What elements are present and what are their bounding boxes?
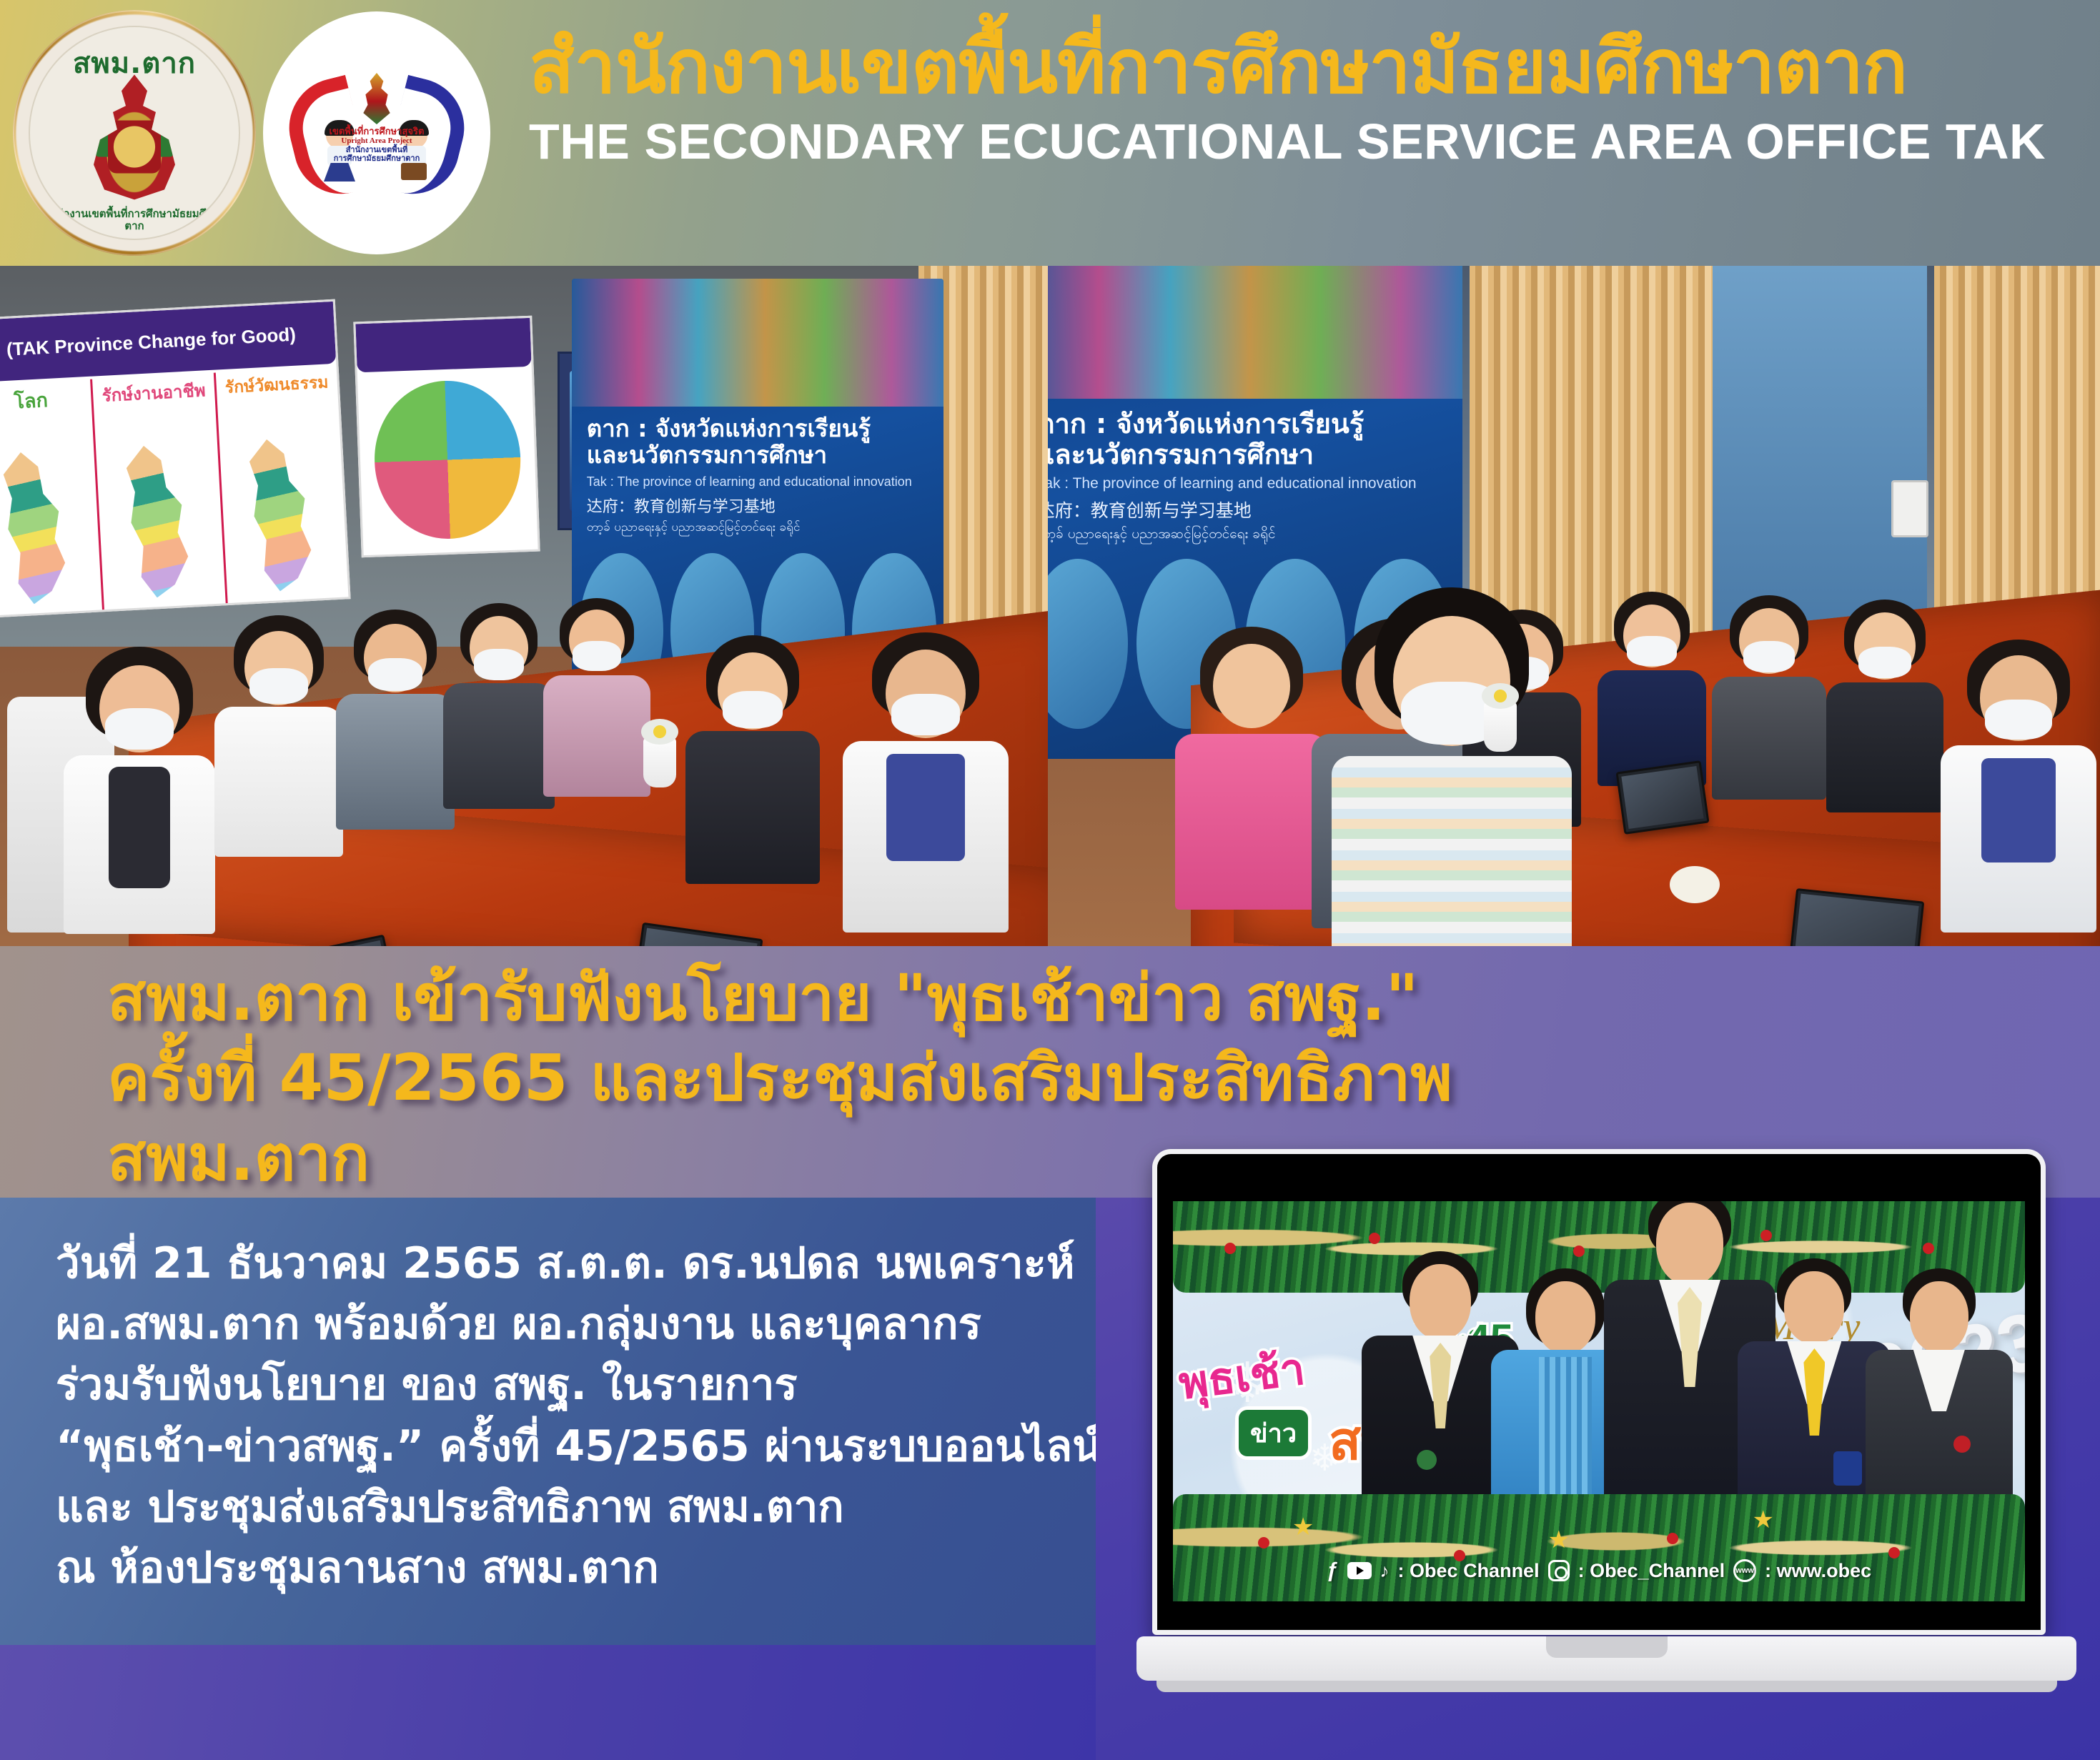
tea-cup — [1670, 866, 1720, 903]
laptop-trackpad-notch — [1546, 1636, 1668, 1658]
banner-line-5: တာ့ခ် ပညာရေးနှင့် ပညာအဆင့်မြင့်တင်ရေး ခရ… — [1048, 525, 1445, 545]
banner-line-3: Tak : The province of learning and educa… — [1048, 475, 1445, 492]
poster-col-label-1: รักษ์งานอาชีพ — [93, 376, 215, 410]
attendee — [1941, 640, 2095, 933]
photo-strip: (TAK Province Change for Good) โลก รักษ์… — [0, 266, 2100, 946]
banner-line-5: တာ့ခ် ပညာရေးနှင့် ပညာအဆင့်မြင့်တင်ရေး ခရ… — [587, 519, 928, 537]
tiktok-label: : Obec Channel — [1398, 1560, 1540, 1582]
body-text-band: วันที่ 21 ธันวาคม 2565 ส.ต.ต. ดร.นปดล นพ… — [0, 1198, 1096, 1645]
poster-col-label-2: รักษ์วัฒนธรรม — [216, 369, 338, 402]
banner-line-3: Tak : The province of learning and educa… — [587, 474, 928, 489]
executive-portrait — [1879, 1251, 1999, 1521]
upright-logo-line4: การศึกษามัธยมศึกษาตาก — [309, 154, 445, 163]
tiktok-icon[interactable]: ♪ — [1380, 1560, 1390, 1582]
attendee — [543, 598, 650, 790]
poster-column: รักษ์งานอาชีพ — [90, 373, 225, 610]
attendee — [336, 610, 454, 824]
executive-portrait — [1754, 1243, 1874, 1521]
body-paragraph: วันที่ 21 ธันวาคม 2565 ส.ต.ต. ดร.นปดล นพ… — [56, 1233, 1071, 1599]
banner-line-2: และนวัตกรรมการศึกษา — [1048, 439, 1445, 470]
attendee — [686, 635, 818, 878]
attendee-foreground — [1334, 587, 1570, 946]
tak-province-map-icon — [111, 443, 211, 600]
banner-line-1: ตาก : จังหวัดแห่งการเรียนรู้ — [587, 416, 928, 442]
upright-logo-line1: เขตพื้นที่การศึกษาสุจริต — [309, 127, 445, 137]
executives-photo-row — [1380, 1201, 1999, 1521]
instagram-icon[interactable] — [1548, 1560, 1570, 1581]
secondary-wall-poster — [353, 316, 540, 558]
social-media-bar: ƒ ♪ : Obec Channel : Obec_Channel www : … — [1173, 1558, 2025, 1583]
poster-col-label-0: โลก — [0, 382, 92, 419]
attendee — [64, 647, 214, 933]
banner-kids-photo — [1048, 266, 1462, 399]
spm-tak-seal-logo: สพม.ตาก สำนักงานเขตพื้นที่การศึกษามัธยมศ… — [13, 10, 256, 256]
laptop-screen: ❄ ❄ ❄ ❄ ❄ ❄ ❄ ❄ พุธเช้า ครั้งที่ 45 — [1173, 1201, 2025, 1601]
seal-bottom-text: สำนักงานเขตพื้นที่การศึกษามัธยมศึกษาตาก — [30, 208, 239, 232]
youtube-icon[interactable] — [1347, 1562, 1372, 1579]
infographic-page: สพม.ตาก สำนักงานเขตพื้นที่การศึกษามัธยมศ… — [0, 0, 2100, 1760]
upright-logo-line3: สำนักงานเขตพื้นที่ — [309, 146, 445, 154]
poster-column: โลก — [0, 379, 102, 616]
body-line-6: ณ ห้องประชุมลานสาง สพม.ตาก — [56, 1538, 1071, 1599]
tablet-device — [1615, 760, 1709, 835]
tak-change-for-good-poster: (TAK Province Change for Good) โลก รักษ์… — [0, 299, 351, 619]
page-header: สพม.ตาก สำนักงานเขตพื้นที่การศึกษามัธยมศ… — [0, 0, 2100, 266]
website-icon[interactable]: www — [1733, 1559, 1756, 1582]
poster-column: รักษ์วัฒนธรรม — [213, 367, 348, 603]
attendee — [443, 603, 554, 803]
banner-line-4: 达府：教育创新与学习基地 — [1048, 497, 1445, 522]
attendee — [1713, 595, 1826, 797]
laptop-base — [1136, 1636, 2076, 1681]
banner-line-1: ตาก : จังหวัดแห่งการเรียนรู้ — [1048, 409, 1445, 439]
seal-emblem-icon — [81, 74, 188, 199]
body-line-3: ร่วมรับฟังนโยบาย ของ สพฐ. ในรายการ — [56, 1355, 1071, 1416]
banner-line-4: 达府：教育创新与学习基地 — [587, 494, 928, 517]
poster-pie-diagram — [372, 379, 524, 541]
laptop-lid: ❄ ❄ ❄ ❄ ❄ ❄ ❄ ❄ พุธเช้า ครั้งที่ 45 — [1152, 1149, 2046, 1635]
headline-line-1: สพม.ตาก เข้ารับฟังนโยบาย "พุธเช้าข่าว สพ… — [107, 958, 1937, 1038]
seal-leaf-right-icon — [142, 133, 173, 157]
attendee — [1177, 627, 1327, 905]
body-line-2: ผอ.สพม.ตาก พร้อมด้วย ผอ.กลุ่มงาน และบุคล… — [56, 1294, 1071, 1355]
bottom-left-background — [0, 1645, 1096, 1760]
executive-portrait — [1630, 1201, 1750, 1521]
attendee — [1827, 600, 1943, 810]
show-logo-khao-badge: ข่าว — [1239, 1410, 1308, 1456]
wall-switch-panel — [1891, 480, 1928, 537]
instagram-label: : Obec_Channel — [1578, 1560, 1725, 1582]
tak-province-map-icon — [0, 449, 87, 607]
flower-vase — [1484, 702, 1517, 752]
seal-leaf-left-icon — [96, 133, 127, 157]
headline-line-2: ครั้งที่ 45/2565 และประชุมส่งเสริมประสิท… — [107, 1038, 1937, 1118]
header-title-thai: สำนักงานเขตพื้นที่การศึกษามัธยมศึกษาตาก — [529, 26, 2094, 107]
attendee — [214, 615, 343, 851]
banner-line-2: และนวัตกรรมการศึกษา — [587, 442, 928, 469]
laptop-base-shadow — [1157, 1681, 2057, 1692]
tak-province-map-icon — [234, 437, 334, 594]
header-title-english: THE SECONDARY ECUCATIONAL SERVICE AREA O… — [529, 113, 2094, 170]
body-line-4: “พุธเช้า-ข่าวสพฐ.” ครั้งที่ 45/2565 ผ่าน… — [56, 1416, 1071, 1477]
meeting-photo-right: ตาก : จังหวัดแห่งการเรียนรู้ และนวัตกรรม… — [1048, 266, 2100, 946]
upright-area-project-logo: เขตพื้นที่การศึกษาสุจริต Upright Area Pr… — [263, 11, 490, 254]
lanyard-badge — [886, 754, 965, 861]
attendee — [843, 632, 1008, 933]
banner-kids-photo — [572, 279, 943, 407]
executive-portrait — [1380, 1236, 1500, 1521]
attendee — [1598, 592, 1705, 783]
body-line-5: และ ประชุมส่งเสริมประสิทธิภาพ สพม.ตาก — [56, 1477, 1071, 1538]
body-line-1: วันที่ 21 ธันวาคม 2565 ส.ต.ต. ดร.นปดล นพ… — [56, 1233, 1071, 1294]
thai-crest-icon — [358, 73, 395, 124]
facebook-icon[interactable]: ƒ — [1327, 1558, 1339, 1583]
website-label: : www.obec — [1765, 1560, 1871, 1582]
header-title-block: สำนักงานเขตพื้นที่การศึกษามัธยมศึกษาตาก … — [529, 26, 2094, 170]
lanyard-badge — [1981, 758, 2056, 862]
meeting-photo-left: (TAK Province Change for Good) โลก รักษ์… — [0, 266, 1048, 946]
flower-vase — [643, 737, 676, 787]
laptop-mockup: ❄ ❄ ❄ ❄ ❄ ❄ ❄ ❄ พุธเช้า ครั้งที่ 45 — [1136, 1149, 2076, 1692]
